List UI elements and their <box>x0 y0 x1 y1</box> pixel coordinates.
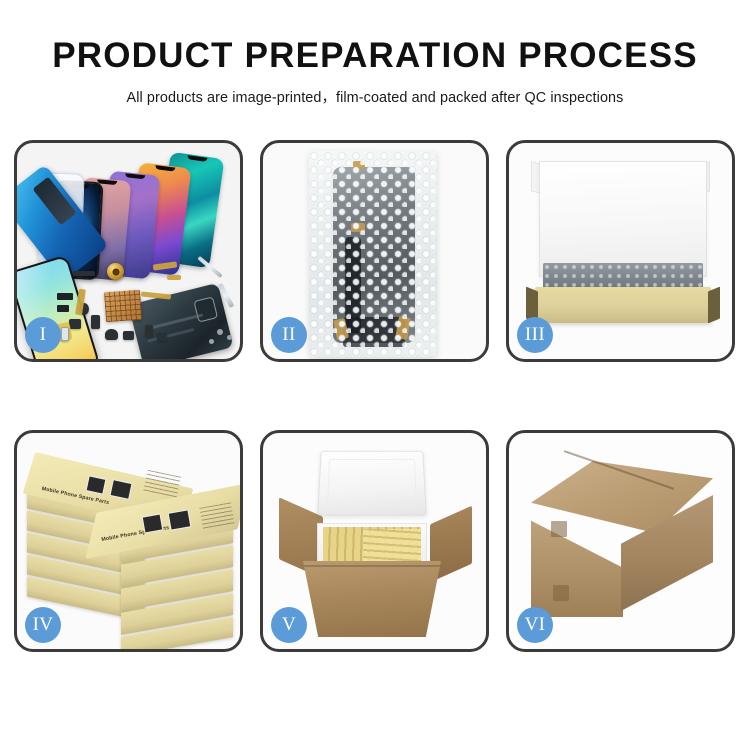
housing-band <box>147 328 194 343</box>
panel-carton-with-foam: V <box>260 430 489 652</box>
step-badge-2: II <box>271 317 307 353</box>
carton-tape <box>553 585 569 601</box>
yellow-boxes-row <box>363 529 421 563</box>
connector-chip <box>57 305 69 312</box>
speaker-part <box>107 263 124 280</box>
process-grid: I II <box>14 140 736 652</box>
foam-lid <box>317 451 427 516</box>
step-badge-6: VI <box>517 607 553 643</box>
notch-icon <box>125 173 145 179</box>
box-window <box>86 475 107 494</box>
page-title: PRODUCT PREPARATION PROCESS <box>0 38 750 75</box>
camera-module-icon <box>193 296 218 322</box>
shipping-carton-open <box>303 561 441 637</box>
header: PRODUCT PREPARATION PROCESS All products… <box>0 0 750 107</box>
small-part <box>123 331 134 340</box>
kraft-box-base <box>535 287 711 323</box>
step-badge-4: IV <box>25 607 61 643</box>
panel-open-inner-box: III <box>506 140 735 362</box>
screw <box>209 339 214 344</box>
connector-chip <box>57 293 73 300</box>
screw <box>227 335 232 340</box>
panel-products-and-parts: I <box>14 140 243 362</box>
box-lid-white <box>539 161 707 277</box>
small-part <box>69 319 81 329</box>
step-badge-3: III <box>517 317 553 353</box>
small-part <box>73 271 95 276</box>
sim-tray <box>61 327 69 341</box>
page-subtitle: All products are image-printed，film-coat… <box>0 86 750 107</box>
copper-shield-plate <box>104 290 142 322</box>
housing-band <box>144 313 203 330</box>
poster-root: PRODUCT PREPARATION PROCESS All products… <box>0 0 750 750</box>
panel-sealed-carton: VI <box>506 430 735 652</box>
screw <box>217 329 223 335</box>
panel-bubble-wrapped: II <box>260 140 489 362</box>
small-part <box>145 325 153 337</box>
carton-tape <box>551 521 567 537</box>
box-window <box>168 509 192 530</box>
box-window <box>142 513 164 533</box>
bubble-wrap-bag <box>309 151 437 357</box>
notch-icon <box>187 155 207 162</box>
step-badge-1: I <box>25 317 61 353</box>
panel-stacked-boxes: Mobile Phone Spare Parts Mobile Phone Sp… <box>14 430 243 652</box>
small-part <box>91 315 100 329</box>
step-badge-5: V <box>271 607 307 643</box>
small-part <box>157 333 167 341</box>
bubble-texture <box>309 151 437 357</box>
flex-cable <box>167 275 181 280</box>
notch-icon <box>155 165 175 171</box>
small-part <box>105 329 118 340</box>
